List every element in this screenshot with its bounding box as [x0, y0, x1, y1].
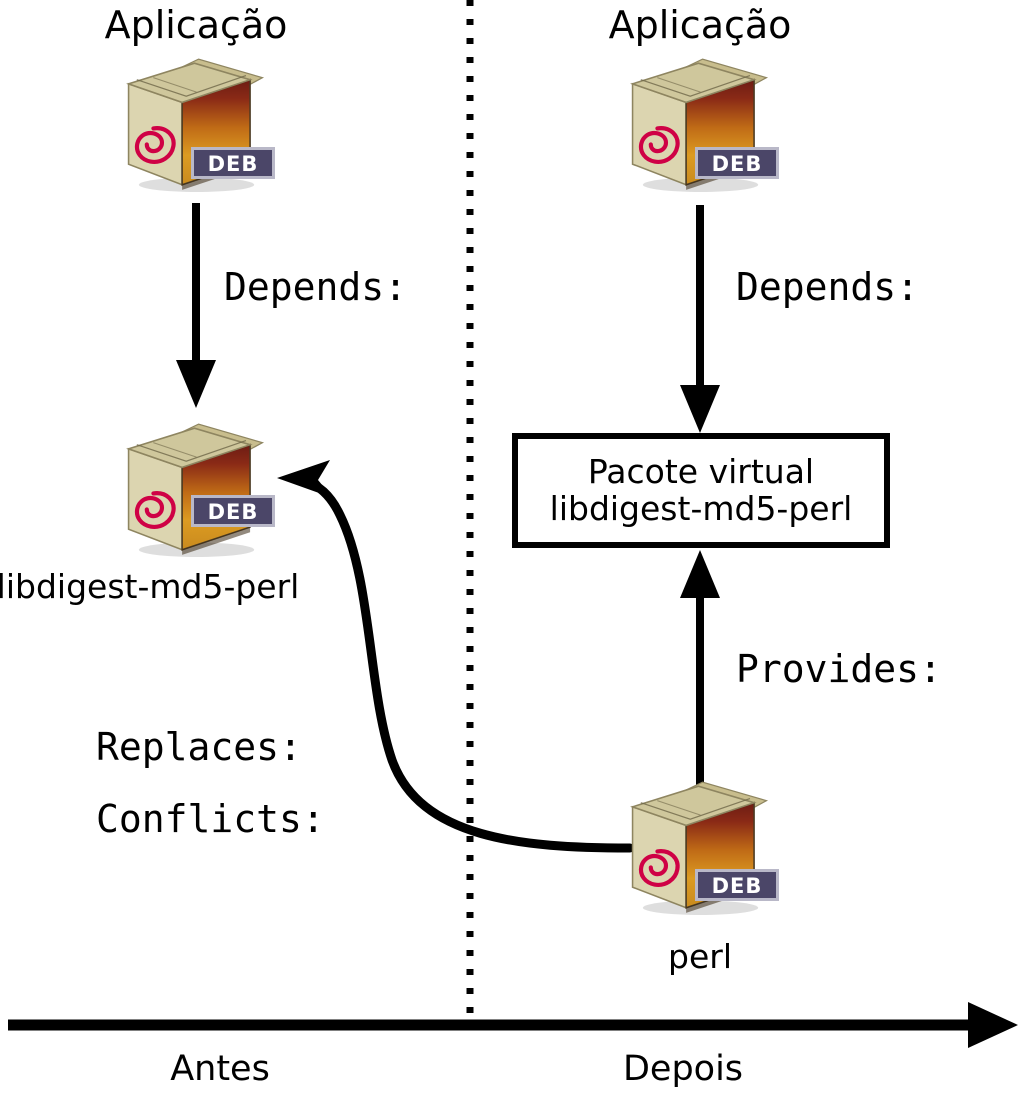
left-app-deb-badge: DEB	[190, 146, 276, 180]
right-app-deb-badge: DEB	[694, 146, 780, 180]
perl-package-label: perl	[668, 940, 732, 973]
diagram-canvas: DEB DEB DEB DEB Aplicação Aplicação Depe…	[0, 0, 1024, 1094]
perl-deb-badge: DEB	[694, 868, 780, 902]
provides-label: Provides:	[736, 650, 942, 688]
svg-text:DEB: DEB	[712, 874, 763, 898]
left-lib-package-icon	[129, 424, 263, 557]
left-app-title: Aplicação	[105, 6, 288, 44]
replaces-label: Replaces:	[96, 728, 302, 766]
left-lib-deb-badge: DEB	[190, 494, 276, 528]
svg-text:DEB: DEB	[712, 152, 763, 176]
conflicts-label: Conflicts:	[96, 800, 325, 838]
svg-text:DEB: DEB	[208, 500, 259, 524]
right-depends-label: Depends:	[736, 268, 919, 306]
virtual-package-line2: libdigest-md5-perl	[550, 491, 853, 528]
right-app-title: Aplicação	[609, 6, 792, 44]
left-lib-package-label: libdigest-md5-perl	[0, 570, 299, 603]
left-depends-arrow	[176, 203, 216, 408]
virtual-package-line1: Pacote virtual	[588, 454, 814, 491]
timeline-after-label: Depois	[623, 1052, 743, 1087]
provides-arrow	[680, 550, 720, 790]
timeline-before-label: Antes	[170, 1052, 270, 1087]
left-depends-label: Depends:	[224, 268, 407, 306]
timeline-axis-arrow	[8, 1002, 1018, 1048]
virtual-package-box: Pacote virtual libdigest-md5-perl	[512, 433, 890, 548]
svg-text:DEB: DEB	[208, 152, 259, 176]
right-depends-arrow	[680, 205, 720, 433]
